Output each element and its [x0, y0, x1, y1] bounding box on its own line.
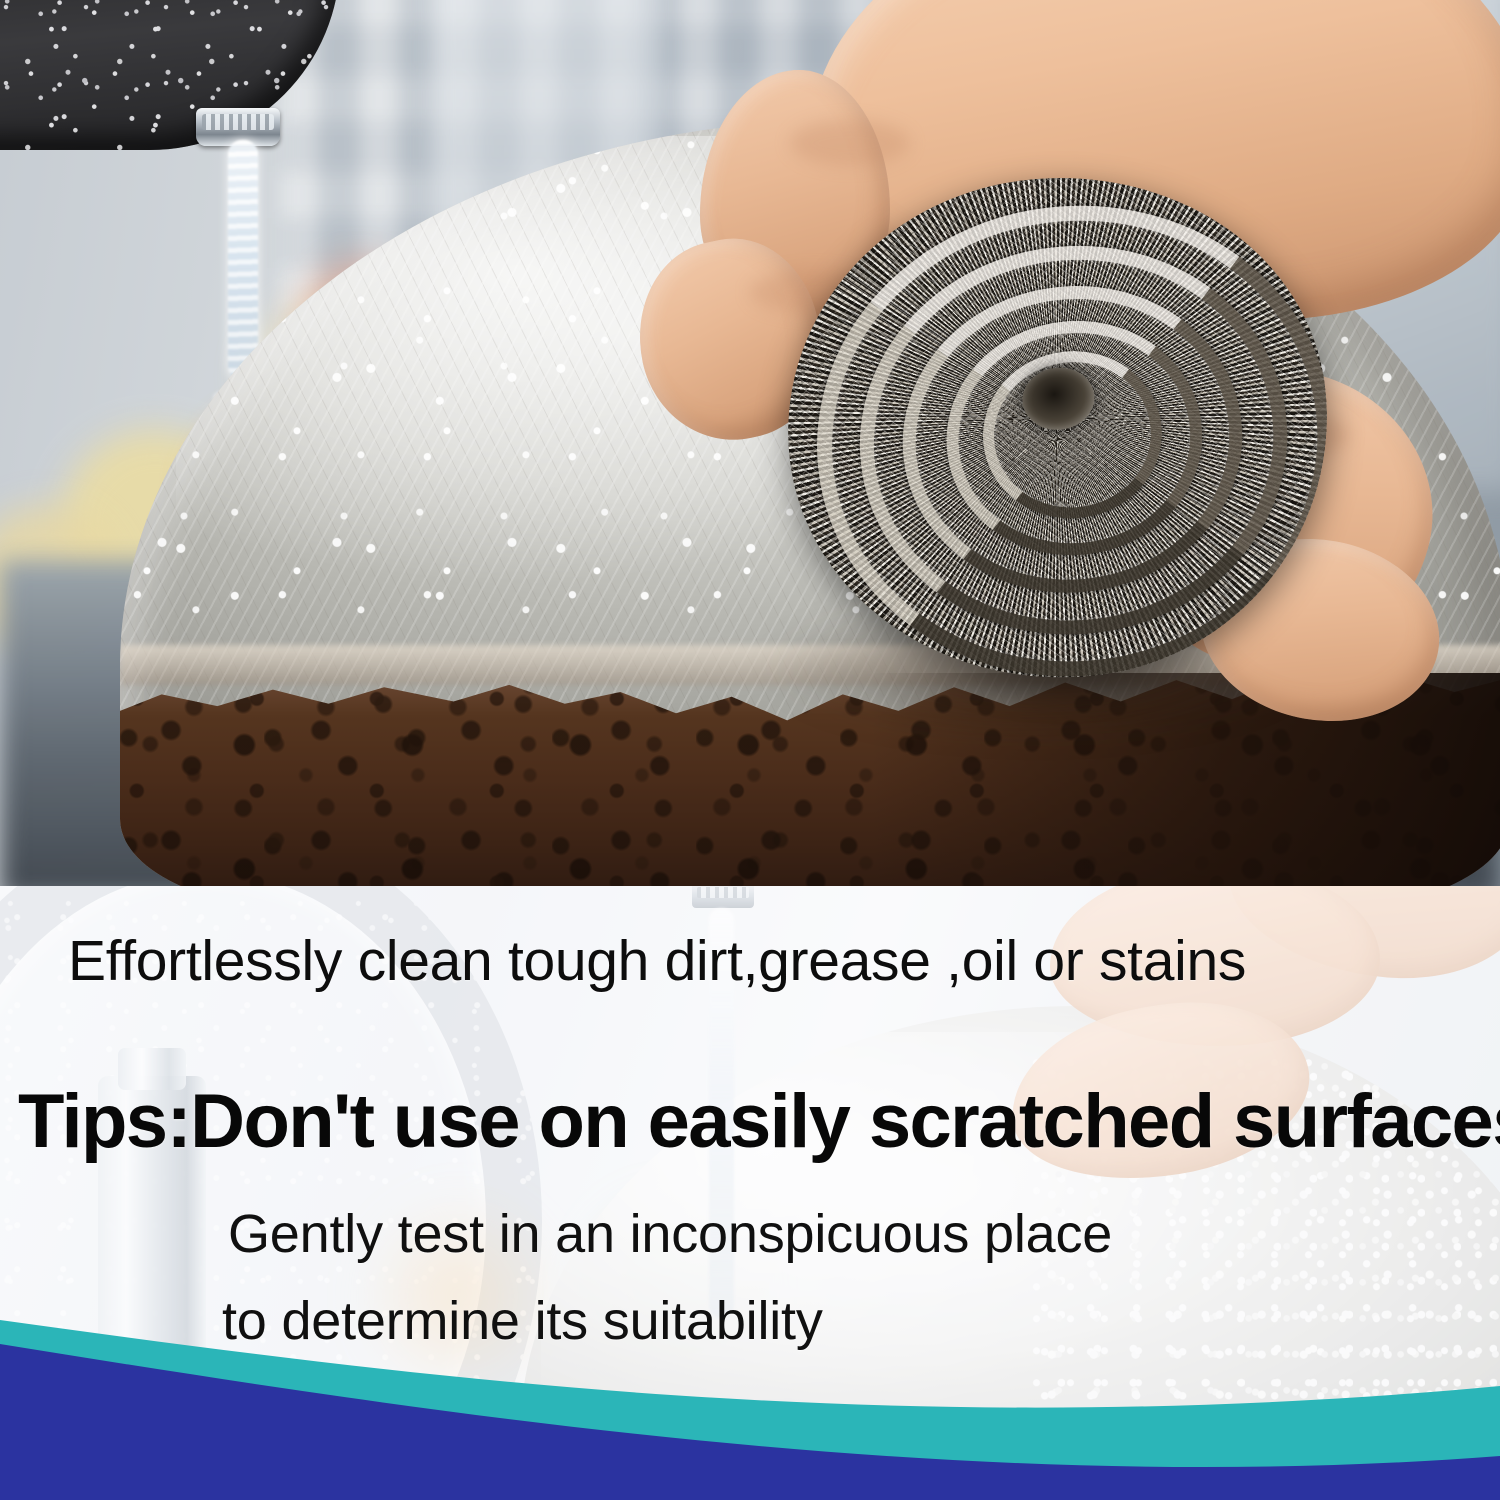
tip-detail-line-2: to determine its suitability	[222, 1290, 823, 1352]
top-photo-panel	[0, 0, 1500, 886]
tip-detail-line-1: Gently test in an inconspicuous place	[228, 1203, 1112, 1265]
steel-wool-scrubber	[760, 147, 1357, 709]
knuckle-crease	[790, 120, 910, 166]
tips-heading: Tips:Don't use on easily scratched surfa…	[18, 1078, 1500, 1165]
product-marketing-image: Effortlessly clean tough dirt,grease ,oi…	[0, 0, 1500, 1500]
benefit-line: Effortlessly clean tough dirt,grease ,oi…	[68, 928, 1246, 994]
